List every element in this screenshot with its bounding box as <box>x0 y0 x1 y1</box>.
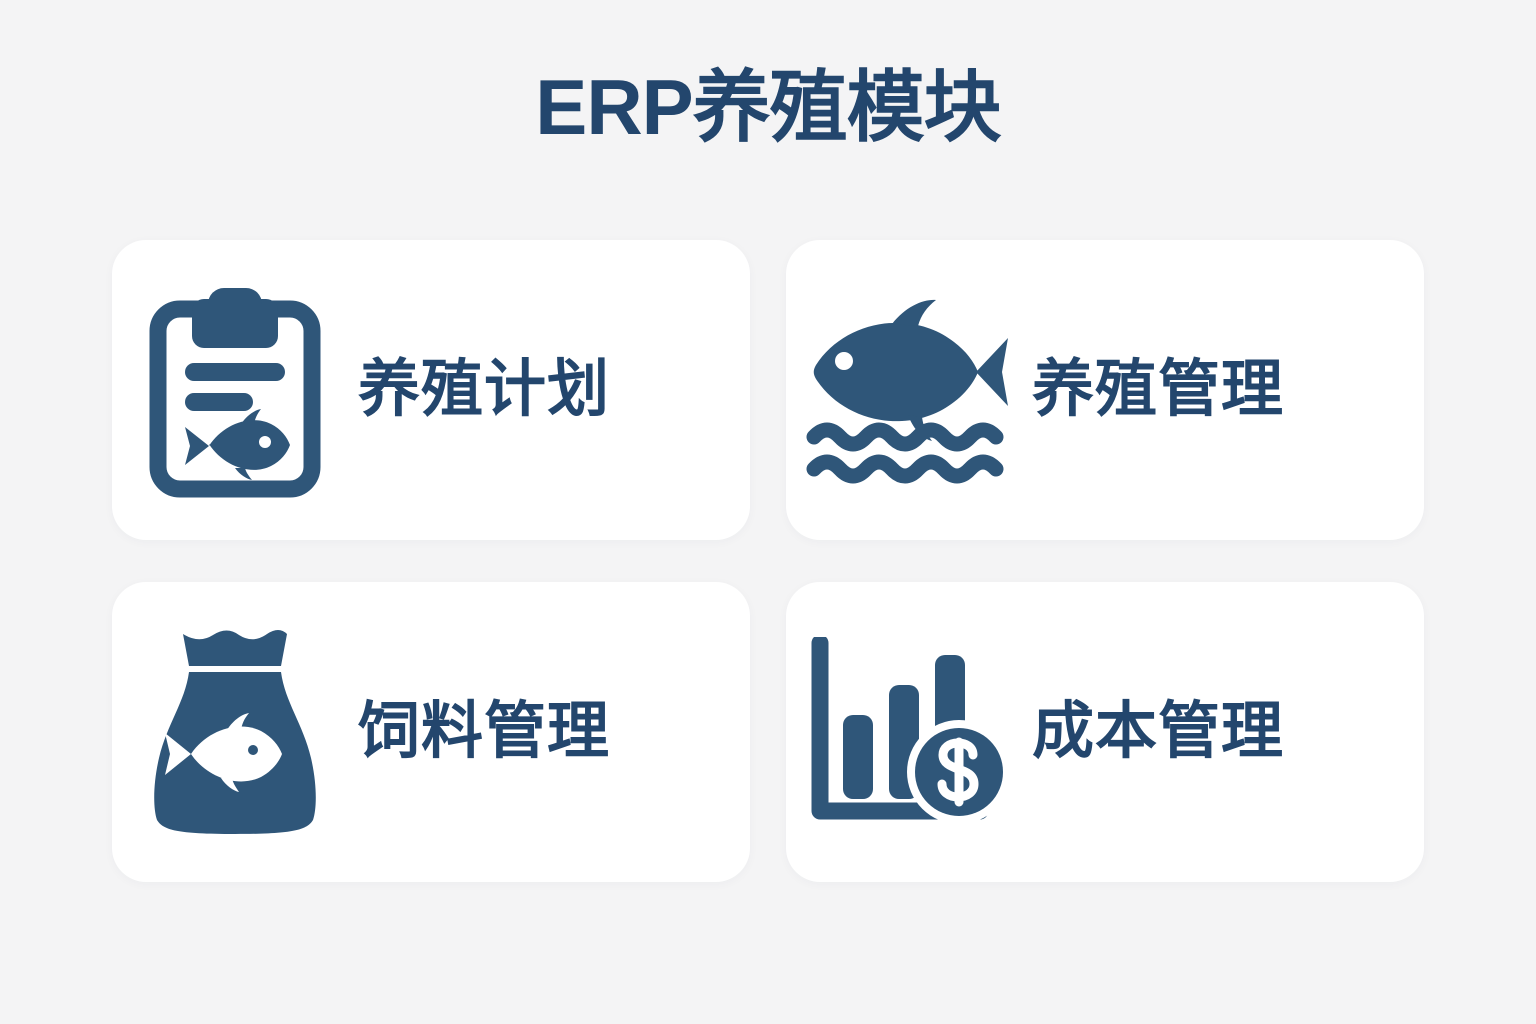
feed-bag-fish-icon <box>112 626 358 838</box>
module-card-label: 饲料管理 <box>358 701 750 763</box>
module-card-breeding-plan[interactable]: 养殖计划 <box>112 240 750 540</box>
module-card-label: 养殖计划 <box>358 359 750 421</box>
erp-module-overview-page: ERP养殖模块 <box>0 0 1536 1024</box>
clipboard-fish-icon <box>112 283 358 498</box>
fish-water-icon <box>786 295 1032 485</box>
module-card-cost-management[interactable]: 成本管理 <box>786 582 1424 882</box>
page-title: ERP养殖模块 <box>0 68 1536 146</box>
module-card-label: 养殖管理 <box>1032 359 1424 421</box>
module-card-label: 成本管理 <box>1032 701 1424 763</box>
module-card-grid: 养殖计划 <box>112 240 1424 882</box>
module-card-breeding-management[interactable]: 养殖管理 <box>786 240 1424 540</box>
module-card-feed-management[interactable]: 饲料管理 <box>112 582 750 882</box>
bar-chart-dollar-icon <box>786 637 1032 827</box>
